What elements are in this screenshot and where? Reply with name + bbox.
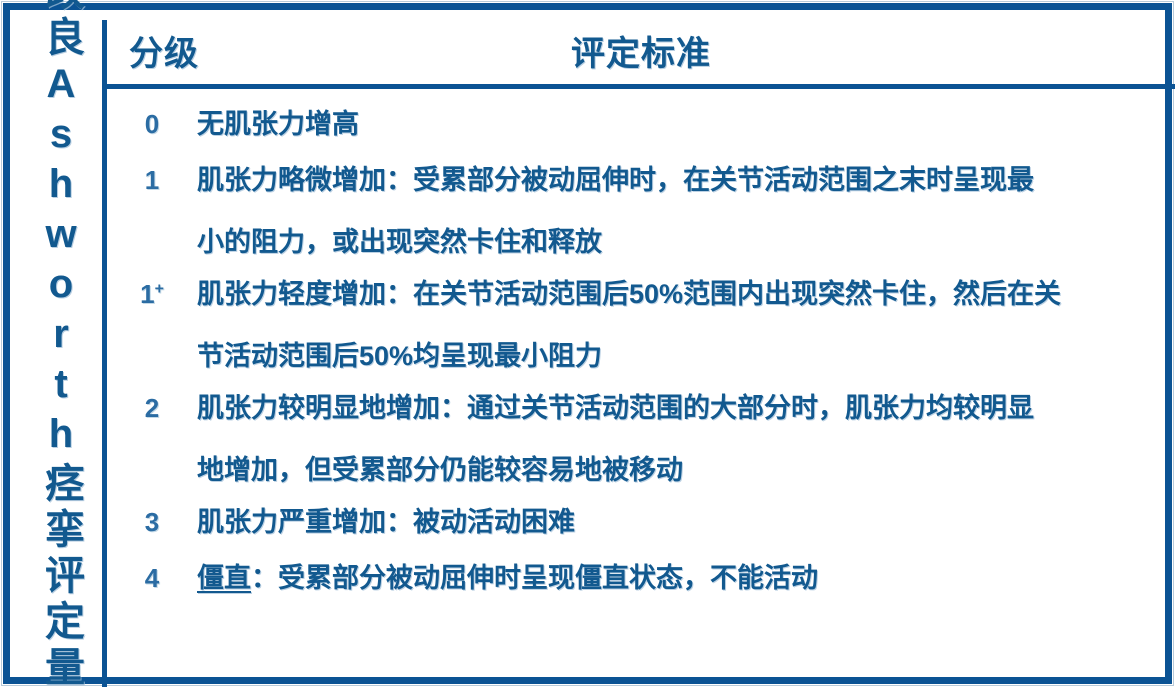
table-row: 1肌张力略微增加：受累部分被动屈伸时，在关节活动范围之末时呈现最小的阻力，或出现… xyxy=(107,157,1175,265)
row-grade-value: 4 xyxy=(107,555,197,601)
row-criteria-text: 无肌张力增高 xyxy=(197,101,1175,147)
row-criteria-line: 肌张力严重增加：被动活动困难 xyxy=(197,499,1169,545)
table-header-row: 分级 评定标准 xyxy=(107,20,1175,84)
table-row: 4僵直：受累部分被动屈伸时呈现僵直状态，不能活动 xyxy=(107,555,1175,601)
row-criteria-line: 节活动范围后50%均呈现最小阻力 xyxy=(197,333,1169,379)
row-criteria-text: 肌张力轻度增加：在关节活动范围后50%范围内出现突然卡住，然后在关节活动范围后5… xyxy=(197,271,1175,379)
row-grade-value: 1+ xyxy=(107,271,197,317)
row-criteria-line: 小的阻力，或出现突然卡住和释放 xyxy=(197,219,1169,265)
row-grade-value: 0 xyxy=(107,101,197,147)
row-criteria-text: 僵直：受累部分被动屈伸时呈现僵直状态，不能活动 xyxy=(197,555,1175,601)
row-grade-value: 3 xyxy=(107,499,197,545)
ashworth-scale-table: 改良Ashworth痉挛评定量表 分级 评定标准 0无肌张力增高1肌张力略微增加… xyxy=(0,0,1175,687)
row-grade-value: 2 xyxy=(107,385,197,431)
row-criteria-text: 肌张力略微增加：受累部分被动屈伸时，在关节活动范围之末时呈现最小的阻力，或出现突… xyxy=(197,157,1175,265)
row-criteria-line: 无肌张力增高 xyxy=(197,101,1169,147)
table-row: 0无肌张力增高 xyxy=(107,101,1175,147)
row-criteria-line: 肌张力较明显地增加：通过关节活动范围的大部分时，肌张力均较明显 xyxy=(197,385,1169,431)
vertical-title-cell: 改良Ashworth痉挛评定量表 xyxy=(20,20,102,687)
row-grade-superscript: + xyxy=(155,280,164,297)
row-criteria-text: 肌张力较明显地增加：通过关节活动范围的大部分时，肌张力均较明显地增加，但受累部分… xyxy=(197,385,1175,493)
row-criteria-underlined-lead: 僵直 xyxy=(197,563,251,593)
table-row: 2肌张力较明显地增加：通过关节活动范围的大部分时，肌张力均较明显地增加，但受累部… xyxy=(107,385,1175,493)
table-grid: 改良Ashworth痉挛评定量表 分级 评定标准 0无肌张力增高1肌张力略微增加… xyxy=(20,20,1175,687)
row-criteria-line: 肌张力略微增加：受累部分被动屈伸时，在关节活动范围之末时呈现最 xyxy=(197,157,1169,203)
header-criteria-label: 评定标准 xyxy=(107,26,1175,75)
vertical-title-text: 改良Ashworth痉挛评定量表 xyxy=(40,0,82,687)
row-criteria-line: 地增加，但受累部分仍能较容易地被移动 xyxy=(197,447,1169,493)
table-body: 0无肌张力增高1肌张力略微增加：受累部分被动屈伸时，在关节活动范围之末时呈现最小… xyxy=(107,89,1175,687)
row-grade-value: 1 xyxy=(107,157,197,203)
row-criteria-line: 僵直：受累部分被动屈伸时呈现僵直状态，不能活动 xyxy=(197,555,1169,601)
table-outer-border: 改良Ashworth痉挛评定量表 分级 评定标准 0无肌张力增高1肌张力略微增加… xyxy=(3,3,1172,684)
row-criteria-line: 肌张力轻度增加：在关节活动范围后50%范围内出现突然卡住，然后在关 xyxy=(197,271,1169,317)
table-row: 3肌张力严重增加：被动活动困难 xyxy=(107,499,1175,545)
table-row: 1+肌张力轻度增加：在关节活动范围后50%范围内出现突然卡住，然后在关节活动范围… xyxy=(107,271,1175,379)
row-criteria-text: 肌张力严重增加：被动活动困难 xyxy=(197,499,1175,545)
